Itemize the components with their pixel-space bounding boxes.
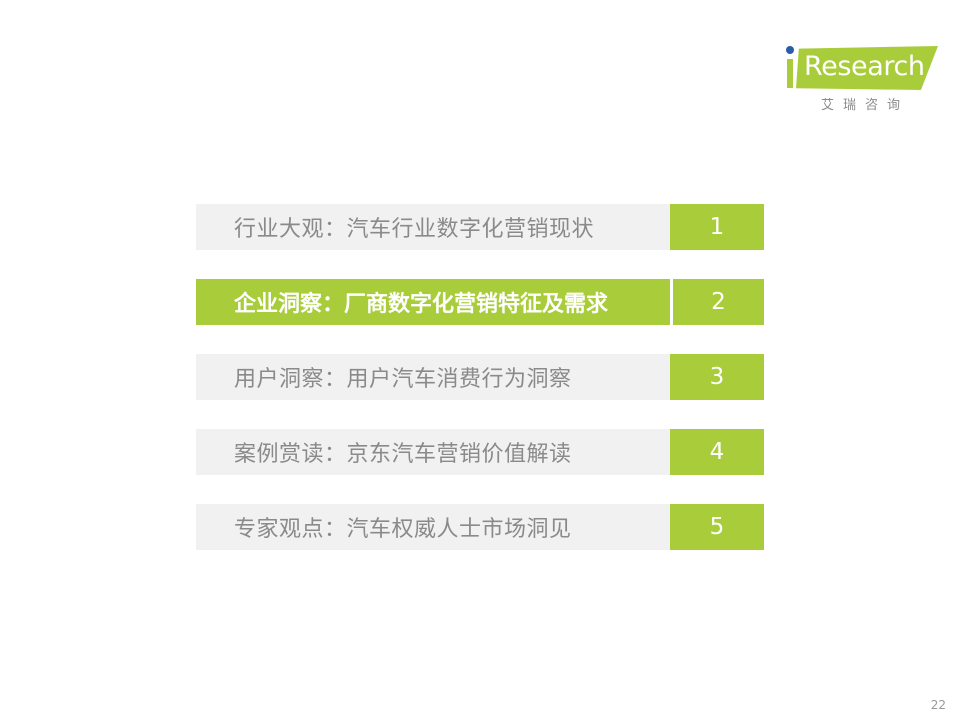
agenda-row-1-number: 1 bbox=[710, 214, 725, 240]
agenda-row-2-number: 2 bbox=[711, 289, 726, 315]
agenda-row-4-number: 4 bbox=[710, 439, 725, 465]
agenda-row-1[interactable]: 行业大观：汽车行业数字化营销现状 1 bbox=[196, 204, 764, 250]
logo-i-dot-icon bbox=[786, 46, 794, 54]
agenda-row-2-label: 企业洞察：厂商数字化营销特征及需求 bbox=[234, 286, 608, 318]
agenda-row-1-label: 行业大观：汽车行业数字化营销现状 bbox=[234, 211, 594, 243]
agenda-row-5-number-block[interactable]: 5 bbox=[670, 504, 764, 550]
iresearch-logo: Research 艾瑞咨询 bbox=[778, 44, 938, 120]
page-number: 22 bbox=[931, 698, 946, 712]
logo-mark: Research bbox=[778, 44, 938, 90]
agenda-row-4-number-block[interactable]: 4 bbox=[670, 429, 764, 475]
agenda-row-1-text[interactable]: 行业大观：汽车行业数字化营销现状 bbox=[196, 204, 670, 250]
agenda-row-4-label: 案例赏读：京东汽车营销价值解读 bbox=[234, 436, 572, 468]
agenda-row-2[interactable]: 企业洞察：厂商数字化营销特征及需求 2 bbox=[196, 279, 764, 325]
logo-wordmark: Research bbox=[804, 51, 925, 83]
agenda-row-2-number-block[interactable]: 2 bbox=[673, 279, 764, 325]
agenda-list: 行业大观：汽车行业数字化营销现状 1 企业洞察：厂商数字化营销特征及需求 2 用… bbox=[196, 204, 764, 550]
agenda-row-5[interactable]: 专家观点：汽车权威人士市场洞见 5 bbox=[196, 504, 764, 550]
agenda-row-5-number: 5 bbox=[710, 514, 725, 540]
agenda-row-3-number-block[interactable]: 3 bbox=[670, 354, 764, 400]
agenda-row-2-text[interactable]: 企业洞察：厂商数字化营销特征及需求 bbox=[196, 279, 670, 325]
agenda-row-3-number: 3 bbox=[710, 364, 725, 390]
agenda-row-3-label: 用户洞察：用户汽车消费行为洞察 bbox=[234, 361, 572, 393]
agenda-row-5-text[interactable]: 专家观点：汽车权威人士市场洞见 bbox=[196, 504, 670, 550]
agenda-row-3[interactable]: 用户洞察：用户汽车消费行为洞察 3 bbox=[196, 354, 764, 400]
agenda-row-4[interactable]: 案例赏读：京东汽车营销价值解读 4 bbox=[196, 429, 764, 475]
agenda-row-4-text[interactable]: 案例赏读：京东汽车营销价值解读 bbox=[196, 429, 670, 475]
agenda-row-1-number-block[interactable]: 1 bbox=[670, 204, 764, 250]
agenda-row-5-label: 专家观点：汽车权威人士市场洞见 bbox=[234, 511, 572, 543]
logo-subtitle: 艾瑞咨询 bbox=[792, 94, 938, 113]
logo-i-stem bbox=[787, 59, 793, 88]
agenda-row-3-text[interactable]: 用户洞察：用户汽车消费行为洞察 bbox=[196, 354, 670, 400]
